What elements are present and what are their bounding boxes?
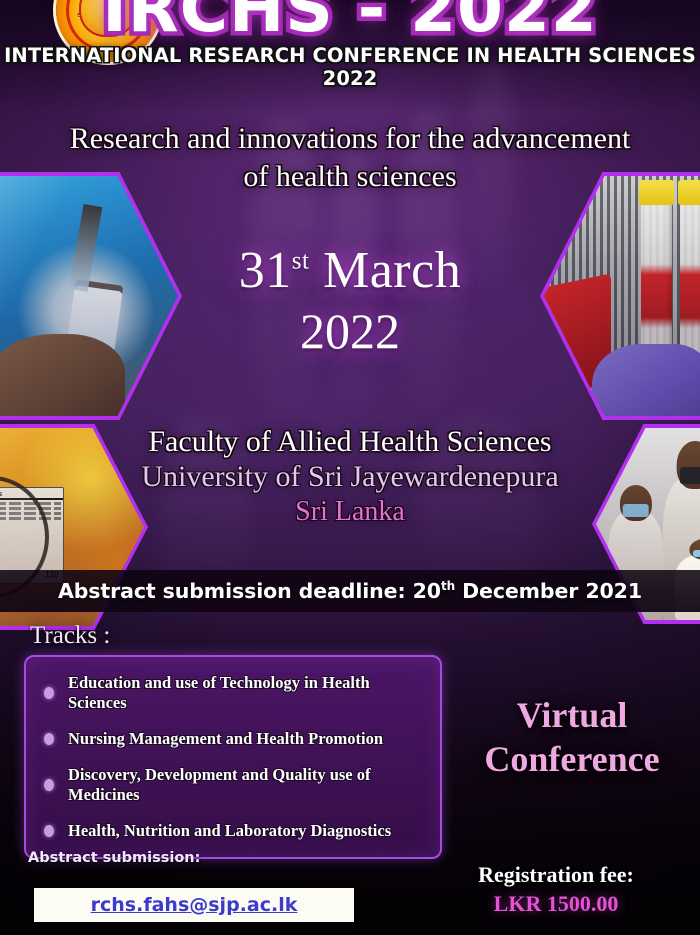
bullet-icon — [44, 733, 54, 745]
poster-header: ස්රී ජයවර්ධනශ්ව IRCHS - 2022 INTERNATION… — [0, 0, 700, 100]
bullet-icon — [44, 825, 54, 837]
registration-fee-amount: LKR 1500.00 — [420, 891, 692, 917]
venue-university: University of Sri Jayewardenepura — [0, 459, 700, 494]
venue-country: Sri Lanka — [0, 495, 700, 529]
track-label: Nursing Management and Health Promotion — [68, 729, 383, 749]
virtual-line-1: Virtual — [452, 694, 692, 738]
submission-email-link[interactable]: rchs.fahs@sjp.ac.lk — [91, 894, 298, 916]
conference-theme: Research and innovations for the advance… — [18, 120, 682, 196]
deadline-ordinal: th — [441, 579, 455, 593]
date-year: 2022 — [0, 303, 700, 359]
track-label: Health, Nutrition and Laboratory Diagnos… — [68, 821, 391, 841]
date-day-month: 31st March — [0, 243, 700, 299]
registration-fee-label: Registration fee: — [420, 862, 692, 888]
deadline-prefix: Abstract submission deadline: 20 — [58, 579, 441, 603]
bullet-icon — [44, 779, 54, 791]
theme-line-2: of health sciences — [18, 158, 682, 196]
virtual-line-2: Conference — [452, 738, 692, 782]
track-label: Discovery, Development and Quality use o… — [68, 765, 430, 805]
venue-faculty: Faculty of Allied Health Sciences — [0, 424, 700, 459]
deadline-text: Abstract submission deadline: 20th Decem… — [58, 579, 642, 603]
theme-line-1: Research and innovations for the advance… — [18, 120, 682, 158]
page-title: IRCHS - 2022 — [0, 0, 700, 47]
date-ordinal: st — [292, 248, 310, 275]
conference-poster: Nutrition Facts 120 — [0, 0, 700, 935]
deadline-banner: Abstract submission deadline: 20th Decem… — [0, 570, 700, 612]
bullet-icon — [44, 687, 54, 699]
submission-label: Abstract submission: — [28, 850, 200, 866]
registration-fee-block: Registration fee: LKR 1500.00 — [420, 862, 692, 917]
date-month: March — [323, 242, 461, 299]
tracks-list: Education and use of Technology in Healt… — [24, 655, 442, 859]
submission-email-box[interactable]: rchs.fahs@sjp.ac.lk — [34, 888, 354, 922]
conference-subtitle: INTERNATIONAL RESEARCH CONFERENCE IN HEA… — [0, 44, 700, 90]
tracks-heading: Tracks : — [30, 622, 110, 650]
track-label: Education and use of Technology in Healt… — [68, 673, 430, 713]
list-item: Education and use of Technology in Healt… — [40, 673, 430, 713]
virtual-conference-badge: Virtual Conference — [452, 694, 692, 782]
list-item: Discovery, Development and Quality use o… — [40, 765, 430, 805]
deadline-suffix: December 2021 — [462, 579, 642, 603]
list-item: Nursing Management and Health Promotion — [40, 729, 430, 749]
date-day: 31 — [239, 242, 292, 299]
list-item: Health, Nutrition and Laboratory Diagnos… — [40, 821, 430, 841]
conference-date: 31st March 2022 — [0, 243, 700, 359]
venue-block: Faculty of Allied Health Sciences Univer… — [0, 424, 700, 528]
